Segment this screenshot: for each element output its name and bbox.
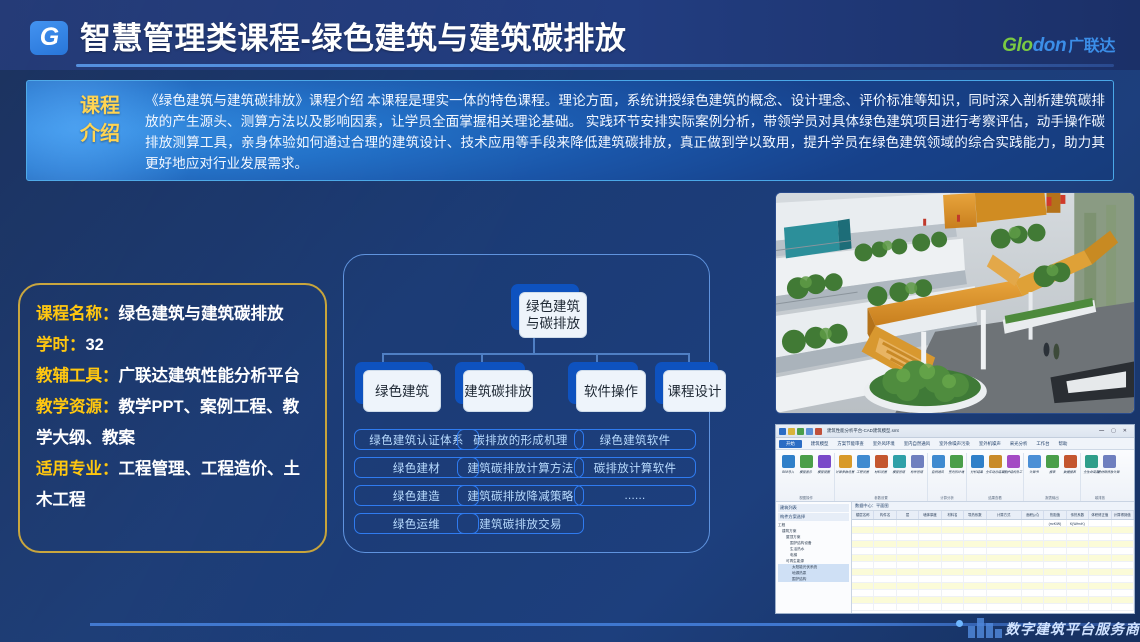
sw-grid-cell: [1044, 562, 1066, 568]
sw-ribbon-group-label: 结果查看: [988, 495, 1002, 501]
sw-ribbon-icon-label: BIM导入: [782, 469, 794, 474]
sw-tree-header: 建筑列表: [778, 504, 849, 512]
sw-grid-cell: [919, 576, 941, 582]
sw-undo-icon[interactable]: [806, 428, 813, 435]
sw-grid-cell: [919, 555, 941, 561]
sw-grid-row[interactable]: [852, 576, 1134, 583]
leaf-label: 绿色建材: [393, 460, 440, 476]
sw-ribbon: BIM导入 模型显示 模型视图 视图操作 计算参数设置 工程设置 材料设置 模型…: [776, 450, 1134, 502]
info-key: 教辅工具：: [36, 367, 119, 385]
leaf-label: 碳排放计算软件: [594, 460, 677, 476]
sw-grid-cell: [919, 604, 941, 610]
sw-ribbon-icon-label: 工程设置: [857, 469, 870, 474]
sw-grid-cell: [874, 583, 896, 589]
sw-grid-cell: [987, 569, 1022, 575]
material-carbon-icon: [1103, 455, 1116, 468]
sw-grid-row[interactable]: [852, 604, 1134, 611]
sw-grid-cell: [964, 527, 986, 533]
diagram-leaf-c3-r2[interactable]: 碳排放计算软件: [574, 457, 696, 478]
report-icon: [1046, 455, 1059, 468]
sw-grid-cell: [987, 562, 1022, 568]
diagram-node-branch-2-label: 建筑碳排放: [464, 383, 532, 400]
sw-app-icon: [779, 428, 786, 435]
diagram-node-branch-4-label: 课程设计: [668, 383, 722, 400]
indoor-thermal-icon: [950, 455, 963, 468]
footer-building-icon: [968, 614, 1002, 638]
sw-ribbon-tabs[interactable]: 开始 建筑模型 方案节能审查 室外风环境 室内自然通风 室外余噪声污染 室外机噪…: [776, 438, 1134, 450]
sw-grid-cell: [919, 548, 941, 554]
info-value: 广联达建筑性能分析平台: [119, 367, 301, 385]
diagram-node-branch-1[interactable]: 绿色建筑: [363, 370, 441, 412]
diagram-node-branch-2[interactable]: 建筑碳排放: [463, 370, 533, 412]
sw-tab-3[interactable]: 室外风环境: [873, 441, 895, 447]
sw-grid-cell: [852, 520, 874, 526]
sw-grid-cell: [942, 597, 964, 603]
sw-ribbon-button[interactable]: 模型管理: [892, 455, 906, 474]
sw-grid-cell: [1067, 527, 1089, 533]
sw-grid-cell: [919, 520, 941, 526]
sw-grid-cell: [874, 527, 896, 533]
model-display-icon: [800, 455, 813, 468]
sw-grid-row[interactable]: [852, 590, 1134, 597]
sw-grid-cell: [897, 583, 919, 589]
sw-ribbon-button[interactable]: 室内热环境: [949, 455, 963, 474]
sw-grid-row[interactable]: [852, 541, 1134, 548]
sw-grid-col-6: 计算方式: [987, 511, 1022, 519]
software-screenshot: 建筑性能分析平台-CAD建筑模型.smt — ▢ ✕ 开始 建筑模型 方案节能审…: [775, 424, 1135, 614]
sw-grid-cell: [964, 604, 986, 610]
sw-grid-cell: [1067, 548, 1089, 554]
info-key: 教学资源：: [36, 398, 119, 416]
natural-ventilation-icon: [932, 455, 945, 468]
sw-tab-8[interactable]: 工作台: [1036, 441, 1049, 447]
leaf-label: 绿色运维: [393, 516, 440, 532]
sw-grid-cell: [987, 527, 1022, 533]
sw-grid-cell: [942, 527, 964, 533]
header-divider: [76, 64, 1114, 67]
calc-param-icon: [839, 455, 852, 468]
info-value: 绿色建筑与建筑碳排放: [119, 305, 284, 323]
sw-titlebar: 建筑性能分析平台-CAD建筑模型.smt — ▢ ✕: [776, 425, 1134, 438]
sw-grid-row[interactable]: [852, 548, 1134, 555]
brand-glo-text: Glo: [1002, 35, 1032, 56]
sw-ribbon-icon-label: 计算参数设置: [836, 469, 855, 474]
leaf-label: 绿色建筑认证体系: [369, 432, 463, 448]
sw-grid-cell: [964, 597, 986, 603]
sw-grid-row[interactable]: [852, 555, 1134, 562]
sw-grid-cell: [964, 583, 986, 589]
sw-ribbon-icon-label: 围护结构热工: [1004, 469, 1023, 474]
sw-ribbon-icon-label: 室内热环境: [948, 469, 964, 474]
sw-tab-5[interactable]: 室外余噪声污染: [939, 441, 970, 447]
sw-ribbon-button[interactable]: 计算参数设置: [838, 455, 852, 474]
sw-grid-cell: [1089, 527, 1111, 533]
annual-dynamic-icon: [989, 455, 1002, 468]
sw-ribbon-group-3: 分析结果 全年动态结果 围护结构热工 结果查看: [967, 453, 1024, 501]
sw-grid-cell: [987, 583, 1022, 589]
sw-ribbon-button[interactable]: 围护结构热工: [1006, 455, 1020, 474]
lifecycle-carbon-icon: [1085, 455, 1098, 468]
sw-tab-7[interactable]: 采光分析: [1010, 441, 1028, 447]
sw-grid-cell: [987, 590, 1022, 596]
bim-import-icon: [782, 455, 795, 468]
close-icon[interactable]: ✕: [1123, 428, 1127, 434]
maximize-icon[interactable]: ▢: [1111, 428, 1116, 434]
info-row-majors: 适用专业：工程管理、工程造价、土木工程: [36, 454, 311, 516]
sw-grid-cell: [1112, 604, 1134, 610]
sw-ribbon-button[interactable]: 计算书: [1027, 455, 1041, 474]
sw-grid-cell: [964, 590, 986, 596]
info-key: 学时：: [36, 336, 86, 354]
sw-grid-col-9: 传热系数K(W/m²K): [1067, 511, 1089, 519]
diagram-leaf-c2-r1[interactable]: 碳排放的形成机理: [457, 429, 584, 450]
sw-grid-rows[interactable]: [852, 520, 1134, 611]
sw-grid-cell: [852, 597, 874, 603]
brand-logo: Glodon广联达: [1002, 32, 1115, 57]
diagram-leaf-c2-r3[interactable]: 建筑碳排放降减策略: [457, 485, 584, 506]
sw-ribbon-button[interactable]: 工程设置: [856, 455, 870, 474]
sw-ribbon-icon-label: 构件管理: [911, 469, 924, 474]
sw-grid-cell: [874, 569, 896, 575]
info-row-resources: 教学资源：教学PPT、案例工程、教学大纲、教案: [36, 392, 311, 454]
sw-grid-cell: [1112, 534, 1134, 540]
sw-grid-cell: [1112, 597, 1134, 603]
sw-grid-cell: [897, 541, 919, 547]
sw-grid-cell: [852, 604, 874, 610]
course-intro-text: 《绿色建筑与建筑碳排放》课程介绍 本课程是理实一体的特色课程。理论方面，系统讲授…: [145, 90, 1105, 174]
sw-grid-cell: [1044, 520, 1066, 526]
sw-grid-cell: [942, 541, 964, 547]
sw-ribbon-button[interactable]: 分析结果: [970, 455, 984, 474]
sw-grid-cell: [897, 548, 919, 554]
sw-tab-9[interactable]: 帮助: [1059, 441, 1068, 447]
sw-window-buttons[interactable]: — ▢ ✕: [1099, 428, 1131, 434]
sw-grid-cell: [1044, 604, 1066, 610]
sw-grid-cell: [897, 527, 919, 533]
sw-ribbon-group-2: 自然通风 室内热环境 计算分析: [928, 453, 967, 501]
sw-grid-cell: [1089, 590, 1111, 596]
sw-grid-cell: [1089, 541, 1111, 547]
model-view-icon: [818, 455, 831, 468]
page-title: 智慧管理类课程-绿色建筑与建筑碳排放: [80, 13, 626, 58]
sw-grid-cell: [897, 562, 919, 568]
sw-ribbon-icon-label: 全生命周期: [1083, 469, 1099, 474]
sw-grid-cell: [964, 520, 986, 526]
sw-grid-cell: [1112, 569, 1134, 575]
minimize-icon[interactable]: —: [1099, 428, 1104, 434]
sw-grid-cell: [1112, 590, 1134, 596]
sw-grid-col-0: 楼层名称: [852, 511, 874, 519]
sw-grid-cell: [964, 555, 986, 561]
leaf-label: 建筑碳排放交易: [479, 516, 562, 532]
sw-grid-cell: [1022, 527, 1044, 533]
sw-ribbon-icon-label: 报表: [1049, 469, 1055, 474]
sw-grid-cell: [874, 555, 896, 561]
sw-grid-cell: [1067, 569, 1089, 575]
sw-ribbon-group-label: 计算分析: [940, 495, 954, 501]
sw-ribbon-button[interactable]: 全年动态结果: [988, 455, 1002, 474]
info-row-tools: 教辅工具：广联达建筑性能分析平台: [36, 361, 311, 392]
sw-ribbon-button[interactable]: BIM导入: [781, 455, 795, 474]
sw-grid-cell: [1067, 590, 1089, 596]
sw-grid-cell: [964, 569, 986, 575]
sw-grid-cell: [942, 534, 964, 540]
sw-grid-cell: [1067, 604, 1089, 610]
calc-book-icon: [1028, 455, 1041, 468]
sw-grid-row[interactable]: [852, 583, 1134, 590]
sw-open-icon[interactable]: [797, 428, 804, 435]
sw-grid-cell: [919, 569, 941, 575]
sw-grid-cell: [942, 590, 964, 596]
course-intro-label-line1: 课程: [71, 92, 129, 120]
sw-grid-cell: [987, 534, 1022, 540]
sw-grid-cell: [874, 562, 896, 568]
sw-grid-cell: [964, 534, 986, 540]
sw-grid-row[interactable]: [852, 527, 1134, 534]
sw-grid-cell: [1089, 555, 1111, 561]
sw-grid-cell: [1112, 576, 1134, 582]
sw-ribbon-icons: 自然通风 室内热环境: [931, 453, 963, 474]
diagram-leaf-c2-r2[interactable]: 建筑碳排放计算方法: [457, 457, 584, 478]
sw-ribbon-group-label: 参数设置: [874, 495, 888, 501]
sw-grid-cell: [874, 534, 896, 540]
sw-grid-cell: [1112, 548, 1134, 554]
sw-grid-cell: [852, 583, 874, 589]
sw-tab-1[interactable]: 建筑模型: [811, 441, 829, 447]
sw-grid-cell: [987, 576, 1022, 582]
sw-grid-cell: [1089, 569, 1111, 575]
sw-grid-cell: [919, 583, 941, 589]
sw-grid-cell: [1044, 590, 1066, 596]
info-value: 32: [86, 336, 104, 354]
sw-grid-cell: [1089, 534, 1111, 540]
sw-ribbon-icon-label: 模型显示: [800, 469, 813, 474]
sw-grid-cell: [1022, 562, 1044, 568]
sw-body: 建筑列表 构件方案选择 工程 建筑方案 屋顶方案 围护结构设备 生活热水 电梯 …: [776, 502, 1134, 614]
sw-grid-cell: [1112, 527, 1134, 533]
course-intro-label-line2: 介绍: [71, 120, 129, 148]
sw-grid-cell: [1044, 569, 1066, 575]
sw-ribbon-button[interactable]: 建材碳排放计算: [1102, 455, 1116, 474]
sw-tab-6[interactable]: 室外机噪声: [979, 441, 1001, 447]
sw-grid-cell: [919, 590, 941, 596]
sw-grid-cell: [942, 562, 964, 568]
data-report-icon: [1064, 455, 1077, 468]
sw-grid-cell: [1044, 555, 1066, 561]
sw-grid-cell: [942, 555, 964, 561]
sw-grid-cell: [897, 569, 919, 575]
sw-grid-cell: [852, 534, 874, 540]
sw-grid-cell: [919, 562, 941, 568]
sw-save-icon[interactable]: [788, 428, 795, 435]
sw-grid-row[interactable]: [852, 562, 1134, 569]
sw-tab-0[interactable]: 开始: [779, 440, 802, 448]
leaf-label: ......: [625, 490, 646, 502]
sw-ribbon-icon-label: 数据报表: [1064, 469, 1077, 474]
sw-grid-cell: [852, 576, 874, 582]
sw-grid-title: 数据中心：平面图: [852, 502, 1134, 511]
sw-grid-col-8: 热阻值(m²K/W): [1044, 511, 1066, 519]
sw-grid-cell: [874, 604, 896, 610]
sw-grid-cell: [1044, 534, 1066, 540]
sw-ribbon-icons: 计算参数设置 工程设置 材料设置 模型管理 构件管理: [838, 453, 924, 474]
sw-ribbon-button[interactable]: 构件管理: [910, 455, 924, 474]
sw-grid-cell: [852, 541, 874, 547]
sw-grid-cell: [874, 597, 896, 603]
sw-ribbon-button[interactable]: 数据报表: [1063, 455, 1077, 474]
project-setting-icon: [857, 455, 870, 468]
sw-ribbon-icons: BIM导入 模型显示 模型视图: [781, 453, 831, 474]
diagram-leaf-c3-r1[interactable]: 绿色建筑软件: [574, 429, 696, 450]
info-key: 课程名称：: [36, 305, 119, 323]
diagram-leaf-c3-r3[interactable]: ......: [574, 485, 696, 506]
diagram-node-root[interactable]: 绿色建筑与碳排放: [519, 292, 587, 338]
sw-data-grid: 数据中心：平面图 楼层名称 构件名 层 墙体厚度 材料名 导热系数 计算方式 面…: [852, 502, 1134, 614]
sw-grid-col-7: 面积(㎡): [1022, 511, 1044, 519]
sw-grid-cell: [1022, 604, 1044, 610]
sw-grid-cell: [1022, 548, 1044, 554]
sw-ribbon-button[interactable]: 材料设置: [874, 455, 888, 474]
sw-ribbon-group-label: 报表输出: [1045, 495, 1059, 501]
sw-grid-cell: [1067, 562, 1089, 568]
sw-grid-cell: [1089, 562, 1111, 568]
sw-grid-col-2: 层: [897, 511, 919, 519]
green-building-photo: [775, 192, 1135, 414]
sw-grid-cell: [1044, 541, 1066, 547]
course-intro-label: 课程 介绍: [71, 92, 129, 148]
sw-grid-cell: [1067, 597, 1089, 603]
sw-grid-cell: [852, 562, 874, 568]
slide-root: G 智慧管理类课程-绿色建筑与建筑碳排放 Glodon广联达 课程 介绍 《绿色…: [0, 0, 1140, 642]
diagram-node-branch-3[interactable]: 软件操作: [576, 370, 646, 412]
connector-horizontal-bus: [382, 353, 689, 355]
course-structure-diagram: 绿色建筑与碳排放 绿色建筑 建筑碳排放 软件操作 课程设计 绿色建筑认证体系 绿…: [343, 254, 710, 553]
sw-grid-cell: [897, 520, 919, 526]
diagram-leaf-c2-r4[interactable]: 建筑碳排放交易: [457, 513, 584, 534]
sw-grid-cell: [987, 541, 1022, 547]
sw-ribbon-group-label: 碳排放: [1095, 495, 1105, 501]
sw-ribbon-group-4: 计算书 报表 数据报表 报表输出: [1024, 453, 1081, 501]
sw-grid-row[interactable]: [852, 520, 1134, 527]
sw-grid-cell: [1112, 541, 1134, 547]
sw-ribbon-icon-label: 全年动态结果: [986, 469, 1005, 474]
sw-grid-cell: [1089, 604, 1111, 610]
sw-ribbon-button[interactable]: 自然通风: [931, 455, 945, 474]
sw-grid-cell: [964, 562, 986, 568]
sw-ribbon-icons: 计算书 报表 数据报表: [1027, 453, 1077, 474]
sw-grid-cell: [852, 548, 874, 554]
sw-grid-cell: [1112, 555, 1134, 561]
sw-grid-cell: [1044, 576, 1066, 582]
sw-grid-col-11: 计算得到值: [1112, 511, 1134, 519]
sw-grid-cell: [1089, 520, 1111, 526]
sw-grid-cell: [897, 576, 919, 582]
sw-ribbon-icon-label: 分析结果: [971, 469, 984, 474]
sw-grid-cell: [964, 576, 986, 582]
info-row-course-name: 课程名称：绿色建筑与建筑碳排放: [36, 299, 311, 330]
sw-grid-col-3: 墙体厚度: [919, 511, 941, 519]
sw-tab-4[interactable]: 室内自然通风: [904, 441, 930, 447]
sw-grid-cell: [1089, 548, 1111, 554]
sw-grid-cell: [942, 604, 964, 610]
sw-grid-cell: [874, 541, 896, 547]
sw-grid-cell: [987, 520, 1022, 526]
sw-grid-cell: [919, 527, 941, 533]
leaf-label: 绿色建筑软件: [600, 432, 671, 448]
sw-ribbon-icons: 分析结果 全年动态结果 围护结构热工: [970, 453, 1020, 474]
leaf-label: 建筑碳排放降减策略: [467, 488, 573, 504]
diagram-node-branch-4[interactable]: 课程设计: [663, 370, 726, 412]
sw-grid-cell: [919, 597, 941, 603]
sw-grid-cell: [1067, 555, 1089, 561]
sw-grid-cell: [897, 597, 919, 603]
sw-grid-cell: [1022, 597, 1044, 603]
sw-grid-row[interactable]: [852, 597, 1134, 604]
sw-grid-cell: [987, 597, 1022, 603]
sw-grid-cell: [1022, 590, 1044, 596]
sw-tree-tab-1[interactable]: 构件方案选择: [778, 513, 849, 521]
sw-grid-cell: [1044, 597, 1066, 603]
sw-tab-2[interactable]: 方案节能审查: [837, 441, 863, 447]
sw-ribbon-icons: 全生命周期 建材碳排放计算: [1084, 453, 1116, 474]
footer-dot-icon: [956, 620, 963, 627]
photo-illustration: [776, 193, 1134, 413]
sw-grid-cell: [942, 569, 964, 575]
sw-ribbon-icon-label: 模型管理: [893, 469, 906, 474]
sw-close-doc-icon[interactable]: [815, 428, 822, 435]
sw-grid-cell: [1067, 583, 1089, 589]
sw-grid-cell: [897, 590, 919, 596]
leaf-label: 碳排放的形成机理: [473, 432, 567, 448]
sw-ribbon-icon-label: 自然通风: [932, 469, 945, 474]
sw-grid-header-row: 楼层名称 构件名 层 墙体厚度 材料名 导热系数 计算方式 面积(㎡) 热阻值(…: [852, 511, 1134, 520]
sw-grid-row[interactable]: [852, 569, 1134, 576]
sw-grid-cell: [964, 548, 986, 554]
sw-ribbon-icon-label: 模型视图: [818, 469, 831, 474]
sw-grid-cell: [1022, 576, 1044, 582]
sw-grid-cell: [964, 541, 986, 547]
material-setting-icon: [875, 455, 888, 468]
slide-header: G 智慧管理类课程-绿色建筑与建筑碳排放 Glodon广联达: [0, 0, 1140, 70]
sw-grid-cell: [1067, 534, 1089, 540]
sw-grid-cell: [942, 520, 964, 526]
sw-grid-cell: [1044, 527, 1066, 533]
component-manage-icon: [911, 455, 924, 468]
analysis-result-icon: [971, 455, 984, 468]
sw-ribbon-icon-label: 材料设置: [875, 469, 888, 474]
sw-grid-cell: [852, 527, 874, 533]
sw-grid-cell: [1089, 583, 1111, 589]
sw-grid-cell: [942, 548, 964, 554]
sw-ribbon-button[interactable]: 模型视图: [817, 455, 831, 474]
sw-window-title: 建筑性能分析平台-CAD建筑模型.smt: [827, 428, 899, 434]
sw-tree-node-9[interactable]: 围护结构: [778, 576, 849, 582]
sw-grid-col-1: 构件名: [874, 511, 896, 519]
sw-ribbon-button[interactable]: 全生命周期: [1084, 455, 1098, 474]
sw-grid-cell: [987, 604, 1022, 610]
sw-grid-row[interactable]: [852, 534, 1134, 541]
brand-cn-text: 广联达: [1068, 38, 1115, 55]
sw-grid-cell: [1044, 548, 1066, 554]
sw-grid-cell: [852, 555, 874, 561]
sw-ribbon-icon-label: 建材碳排放计算: [1098, 469, 1120, 474]
sw-grid-cell: [1022, 541, 1044, 547]
sw-grid-cell: [852, 590, 874, 596]
sw-ribbon-button[interactable]: 模型显示: [799, 455, 813, 474]
sw-ribbon-button[interactable]: 报表: [1045, 455, 1059, 474]
sw-ribbon-group-0: BIM导入 模型显示 模型视图 视图操作: [778, 453, 835, 501]
glodon-g-icon: G: [30, 21, 68, 55]
